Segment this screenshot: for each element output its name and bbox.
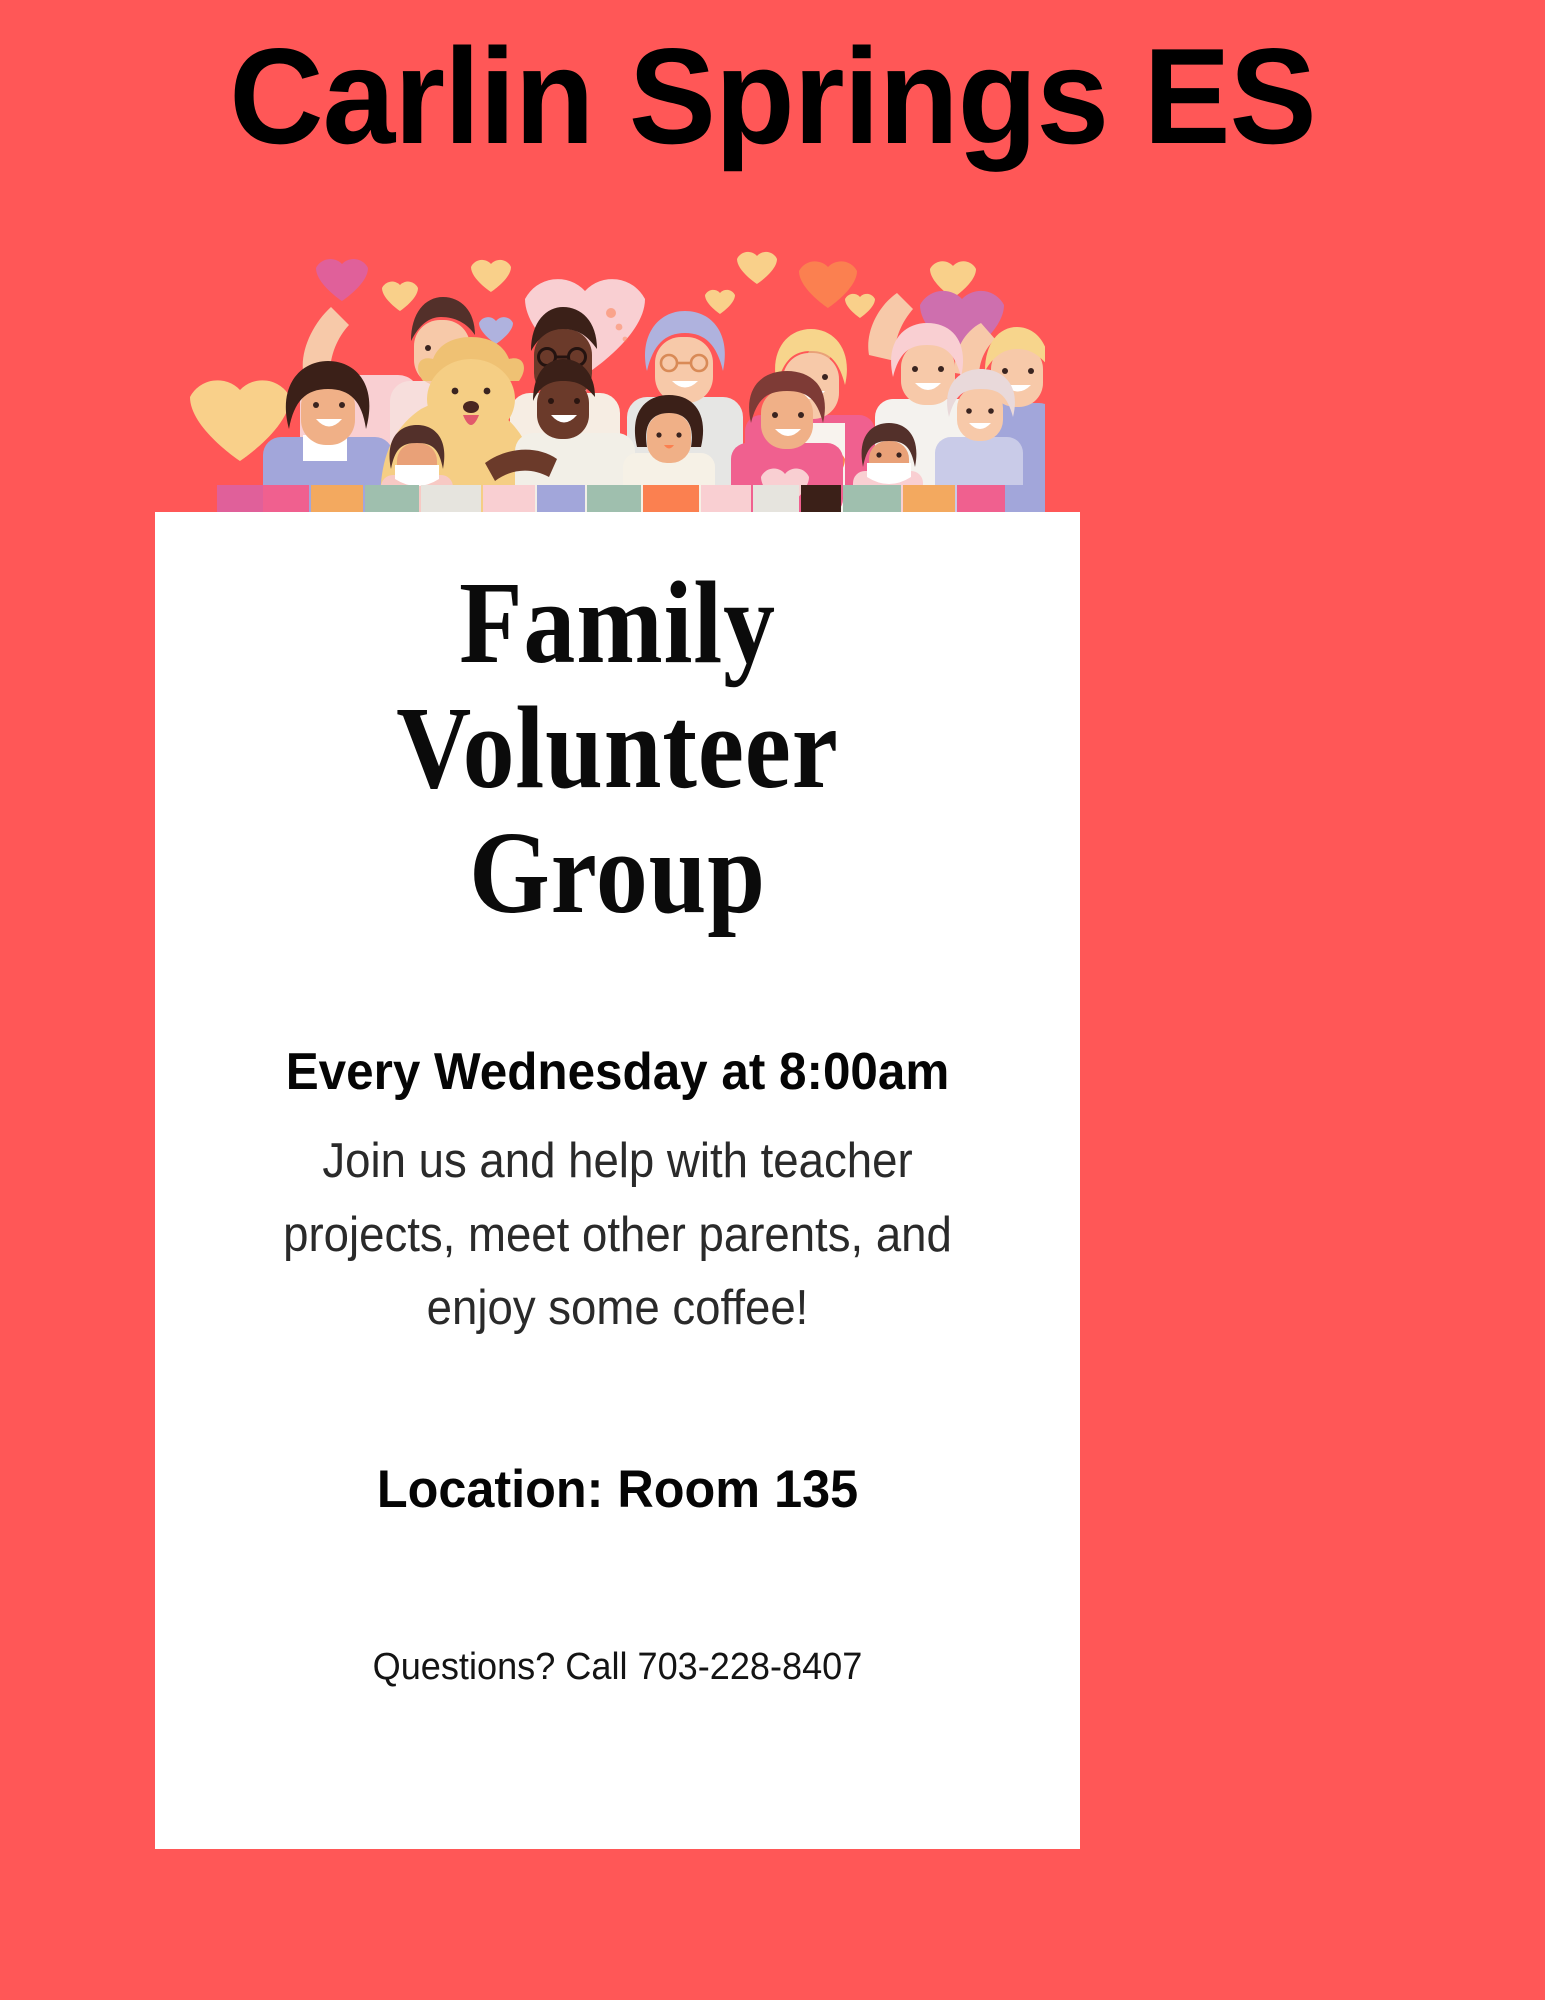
info-card: Family Volunteer Group Every Wednesday a… bbox=[155, 512, 1080, 1849]
headline-line-1: Family Volunteer bbox=[256, 560, 978, 810]
crowd-illustration bbox=[185, 185, 1045, 515]
headline-line-2: Group bbox=[256, 810, 978, 935]
flyer-poster: Carlin Springs ES bbox=[0, 0, 1545, 2000]
page-title: Carlin Springs ES bbox=[31, 28, 1514, 164]
contact-text: Questions? Call 703-228-8407 bbox=[228, 1645, 1008, 1691]
description-text: Join us and help with teacher projects, … bbox=[236, 1125, 1000, 1346]
location-text: Location: Room 135 bbox=[228, 1458, 1008, 1522]
crowd-lower-bodies bbox=[217, 485, 1045, 515]
card-headline: Family Volunteer Group bbox=[256, 560, 978, 935]
meeting-time: Every Wednesday at 8:00am bbox=[228, 1043, 1008, 1103]
